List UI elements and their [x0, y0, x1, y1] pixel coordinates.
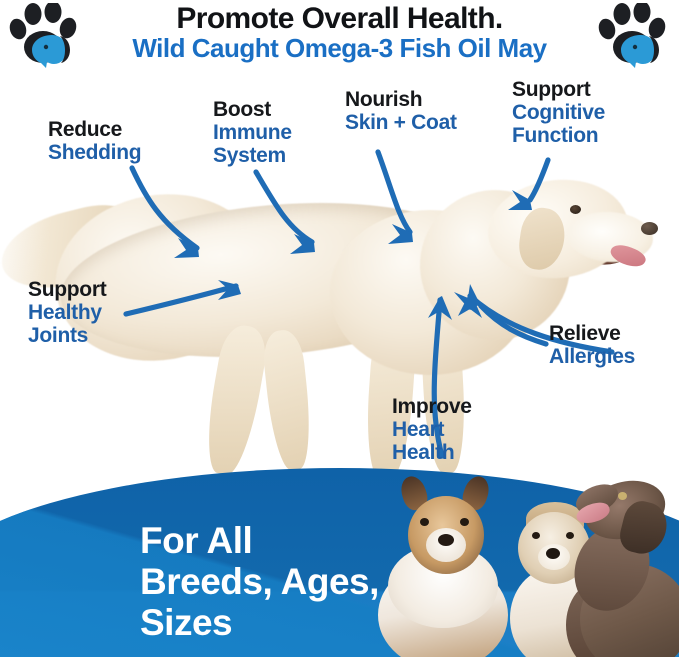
- benefit-value: Healthy: [28, 301, 106, 324]
- bottom-dogs-photo: [370, 468, 679, 657]
- benefit-support-joints: Support Healthy Joints: [28, 278, 106, 347]
- benefit-reduce-shedding: Reduce Shedding: [48, 118, 141, 164]
- benefit-support-cognitive: Support Cognitive Function: [512, 78, 605, 147]
- benefit-value: Shedding: [48, 141, 141, 164]
- benefit-keyword: Support: [512, 78, 605, 101]
- banner-line-2: Breeds, Ages,: [140, 561, 379, 602]
- benefit-keyword: Support: [28, 278, 106, 301]
- benefit-value: Skin + Coat: [345, 111, 457, 134]
- banner-text: For All Breeds, Ages, Sizes: [140, 520, 379, 643]
- sheltie-nose: [438, 534, 454, 546]
- sheltie-eye: [420, 518, 429, 526]
- terrier-nose: [546, 548, 560, 559]
- benefit-keyword: Relieve: [549, 322, 635, 345]
- benefit-value-2: Joints: [28, 324, 106, 347]
- benefit-nourish-skin-coat: Nourish Skin + Coat: [345, 88, 457, 134]
- benefit-value-2: Health: [392, 441, 472, 464]
- benefit-value: Immune: [213, 121, 292, 144]
- benefit-improve-heart: Improve Heart Health: [392, 395, 472, 464]
- benefit-keyword: Nourish: [345, 88, 457, 111]
- benefit-value: Allergies: [549, 345, 635, 368]
- benefit-keyword: Reduce: [48, 118, 141, 141]
- pointer-eye: [618, 492, 627, 500]
- benefit-value: Cognitive: [512, 101, 605, 124]
- benefit-keyword: Boost: [213, 98, 292, 121]
- benefit-value-2: System: [213, 144, 292, 167]
- terrier-eye: [566, 532, 574, 539]
- banner-line-1: For All: [140, 520, 379, 561]
- benefit-relieve-allergies: Relieve Allergies: [549, 322, 635, 368]
- benefit-value: Heart: [392, 418, 472, 441]
- benefit-keyword: Improve: [392, 395, 472, 418]
- benefit-value-2: Function: [512, 124, 605, 147]
- terrier-eye: [532, 532, 540, 539]
- infographic-canvas: Promote Overall Health. Wild Caught Omeg…: [0, 0, 679, 657]
- benefit-boost-immune: Boost Immune System: [213, 98, 292, 167]
- sheltie-eye: [460, 518, 469, 526]
- banner-line-3: Sizes: [140, 602, 379, 643]
